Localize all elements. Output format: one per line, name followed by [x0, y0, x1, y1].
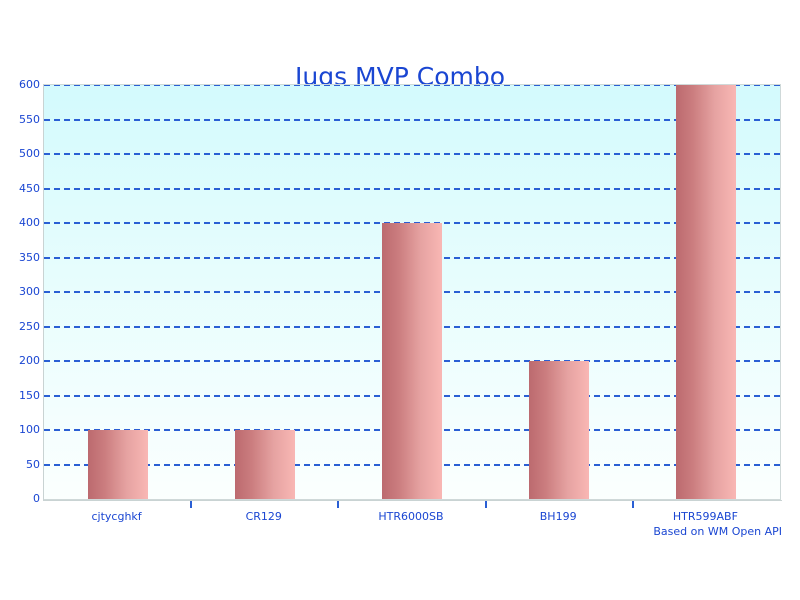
y-axis-line: [43, 84, 44, 501]
x-axis-tick-label: CR129: [190, 510, 337, 523]
y-axis-tick-label: 150: [4, 390, 40, 401]
x-axis-tick-label: HTR6000SB: [337, 510, 484, 523]
y-axis-tick-label: 300: [4, 286, 40, 297]
bar[interactable]: [88, 430, 148, 499]
gridline: [44, 153, 780, 155]
bar[interactable]: [382, 223, 442, 499]
y-axis-tick-label: 600: [4, 79, 40, 90]
bar-chart: Jugs MVP Combo Comparison to other model…: [0, 0, 800, 600]
y-axis-tick-label: 550: [4, 114, 40, 125]
y-axis-tick-label: 500: [4, 148, 40, 159]
y-axis-tick-labels: 050100150200250300350400450500550600: [0, 0, 40, 600]
y-axis-tick-label: 400: [4, 217, 40, 228]
y-axis-tick-label: 250: [4, 321, 40, 332]
y-axis-tick-label: 50: [4, 459, 40, 470]
y-axis-tick-label: 0: [4, 493, 40, 504]
x-axis-tick-mark: [632, 501, 634, 508]
y-axis-tick-label: 200: [4, 355, 40, 366]
plot-area: [43, 84, 781, 500]
y-axis-tick-label: 350: [4, 252, 40, 263]
x-axis-tick-label: cjtycghkf: [43, 510, 190, 523]
y-axis-tick-label: 100: [4, 424, 40, 435]
footer-note: Based on WM Open API: [653, 525, 782, 538]
x-axis-tick-mark: [337, 501, 339, 508]
gridline: [44, 84, 780, 86]
x-axis-tick-mark: [485, 501, 487, 508]
bar[interactable]: [676, 85, 736, 499]
x-axis-tick-mark: [190, 501, 192, 508]
x-axis-line: [43, 500, 782, 501]
bar[interactable]: [529, 361, 589, 499]
x-axis-tick-label: HTR599ABF: [632, 510, 779, 523]
gridline: [44, 119, 780, 121]
x-axis-tick-label: BH199: [485, 510, 632, 523]
bar[interactable]: [235, 430, 295, 499]
gridline: [44, 188, 780, 190]
y-axis-tick-label: 450: [4, 183, 40, 194]
